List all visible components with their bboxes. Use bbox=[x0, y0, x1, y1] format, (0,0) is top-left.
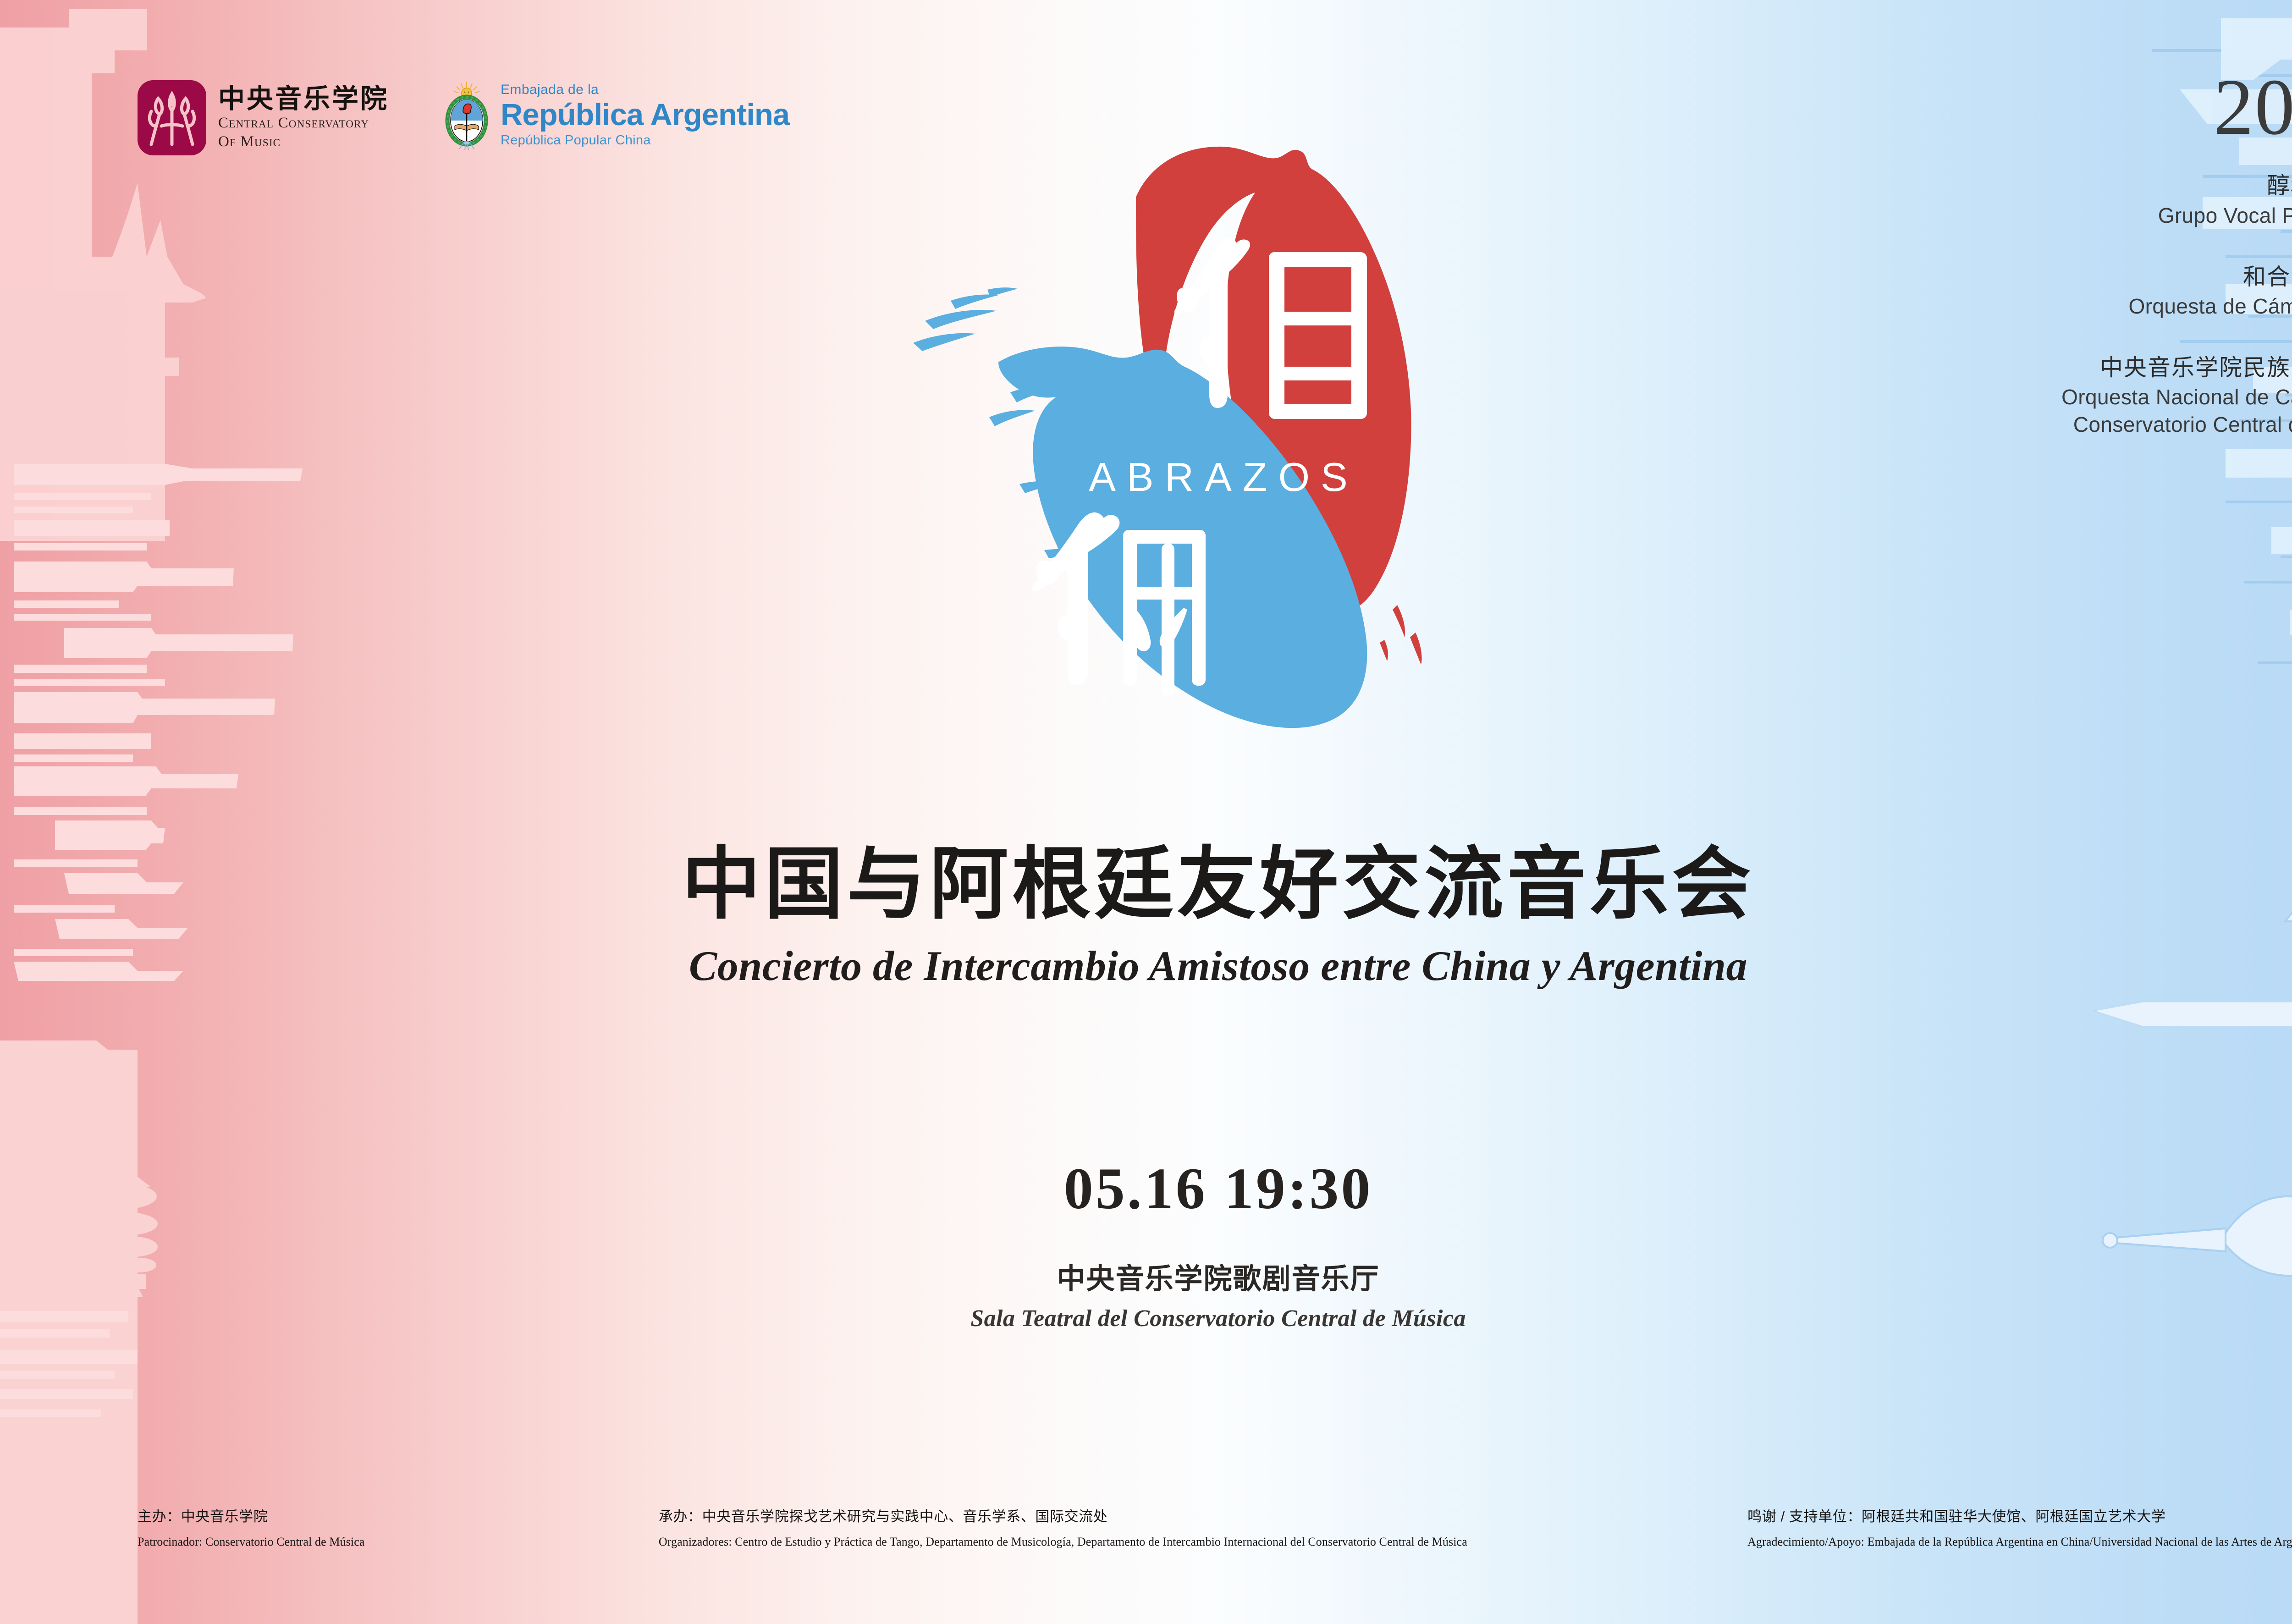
ensemble-name-cn: 中央音乐学院民族室内乐团 bbox=[1900, 353, 2292, 382]
argentina-embassy-line1: Embajada de la bbox=[501, 83, 789, 97]
year-label: 2023 bbox=[1900, 69, 2292, 145]
central-conservatory-logo: 中央音乐学院 Central Conservatory Of Music bbox=[138, 80, 389, 155]
page-title-es: Concierto de Intercambio Amistoso entre … bbox=[0, 941, 2292, 990]
argentina-embassy-line3: República Popular China bbox=[501, 134, 789, 147]
ccom-name-en-line1: Central Conservatory bbox=[218, 115, 389, 132]
page-title-cn: 中国与阿根廷友好交流音乐会 bbox=[0, 841, 2292, 930]
credit-organizers-cn: 承办：中央音乐学院探戈艺术研究与实践中心、音乐学系、国际交流处 bbox=[659, 1506, 1467, 1528]
credit-support: 鸣谢 / 支持单位：阿根廷共和国驻华大使馆、阿根廷国立艺术大学 Agradeci… bbox=[1747, 1506, 2292, 1551]
abrazos-word: ABRAZOS bbox=[907, 454, 1530, 501]
argentina-embassy-logo: Embajada de la República Argentina Repúb… bbox=[443, 80, 789, 150]
event-details-block: 05.16 19:30 中央音乐学院歌剧音乐厅 Sala Teatral del… bbox=[0, 1155, 2292, 1332]
ccom-name-cn: 中央音乐学院 bbox=[218, 85, 389, 113]
ensemble-item: 和合室内乐团 Orquesta de Cámara Hehe bbox=[1900, 263, 2292, 320]
event-venue-es: Sala Teatral del Conservatorio Central d… bbox=[0, 1305, 2292, 1332]
concert-poster: 中央音乐学院 Central Conservatory Of Music bbox=[0, 0, 2292, 1624]
ensemble-name-cn: 醇和声乐团 bbox=[1900, 171, 2292, 200]
headline-block: 中国与阿根廷友好交流音乐会 Concierto de Intercambio A… bbox=[0, 841, 2292, 990]
ensemble-name-cn: 和合室内乐团 bbox=[1900, 263, 2292, 292]
event-venue-cn: 中央音乐学院歌剧音乐厅 bbox=[0, 1255, 2292, 1297]
ensemble-name-es: Orquesta Nacional de Cámara del Conserva… bbox=[1900, 384, 2292, 439]
credit-sponsor-cn: 主办：中央音乐学院 bbox=[138, 1506, 364, 1528]
ccom-name-en-line2: Of Music bbox=[218, 133, 389, 150]
ensemble-item: 中央音乐学院民族室内乐团 Orquesta Nacional de Cámara… bbox=[1900, 353, 2292, 439]
chinese-architecture-silhouette-icon bbox=[0, 0, 348, 1624]
abrazos-brush-emblem: ABRAZOS bbox=[907, 138, 1530, 733]
argentina-coat-of-arms-icon bbox=[443, 80, 490, 150]
credit-organizers: 承办：中央音乐学院探戈艺术研究与实践中心、音乐学系、国际交流处 Organiza… bbox=[659, 1506, 1467, 1551]
ccom-emblem-icon bbox=[138, 80, 206, 155]
credit-organizers-es: Organizadores: Centro de Estudio y Práct… bbox=[659, 1533, 1467, 1551]
logo-row: 中央音乐学院 Central Conservatory Of Music bbox=[138, 80, 789, 155]
credit-support-cn: 鸣谢 / 支持单位：阿根廷共和国驻华大使馆、阿根廷国立艺术大学 bbox=[1747, 1506, 2292, 1528]
ensemble-item: 醇和声乐团 Grupo Vocal Pure Voice bbox=[1900, 171, 2292, 229]
ensembles-block: 2023 醇和声乐团 Grupo Vocal Pure Voice 和合室内乐团… bbox=[1900, 69, 2292, 439]
credit-support-es: Agradecimiento/Apoyo: Embajada de la Rep… bbox=[1747, 1533, 2292, 1551]
argentina-embassy-line2: República Argentina bbox=[501, 99, 789, 130]
ensemble-name-es: Orquesta de Cámara Hehe bbox=[1900, 293, 2292, 320]
event-datetime: 05.16 19:30 bbox=[0, 1155, 2292, 1222]
credit-sponsor-es: Patrocinador: Conservatorio Central de M… bbox=[138, 1533, 364, 1551]
credit-sponsor: 主办：中央音乐学院 Patrocinador: Conservatorio Ce… bbox=[138, 1506, 364, 1551]
footer-credits: 主办：中央音乐学院 Patrocinador: Conservatorio Ce… bbox=[138, 1506, 2292, 1551]
ensemble-name-es: Grupo Vocal Pure Voice bbox=[1900, 202, 2292, 230]
